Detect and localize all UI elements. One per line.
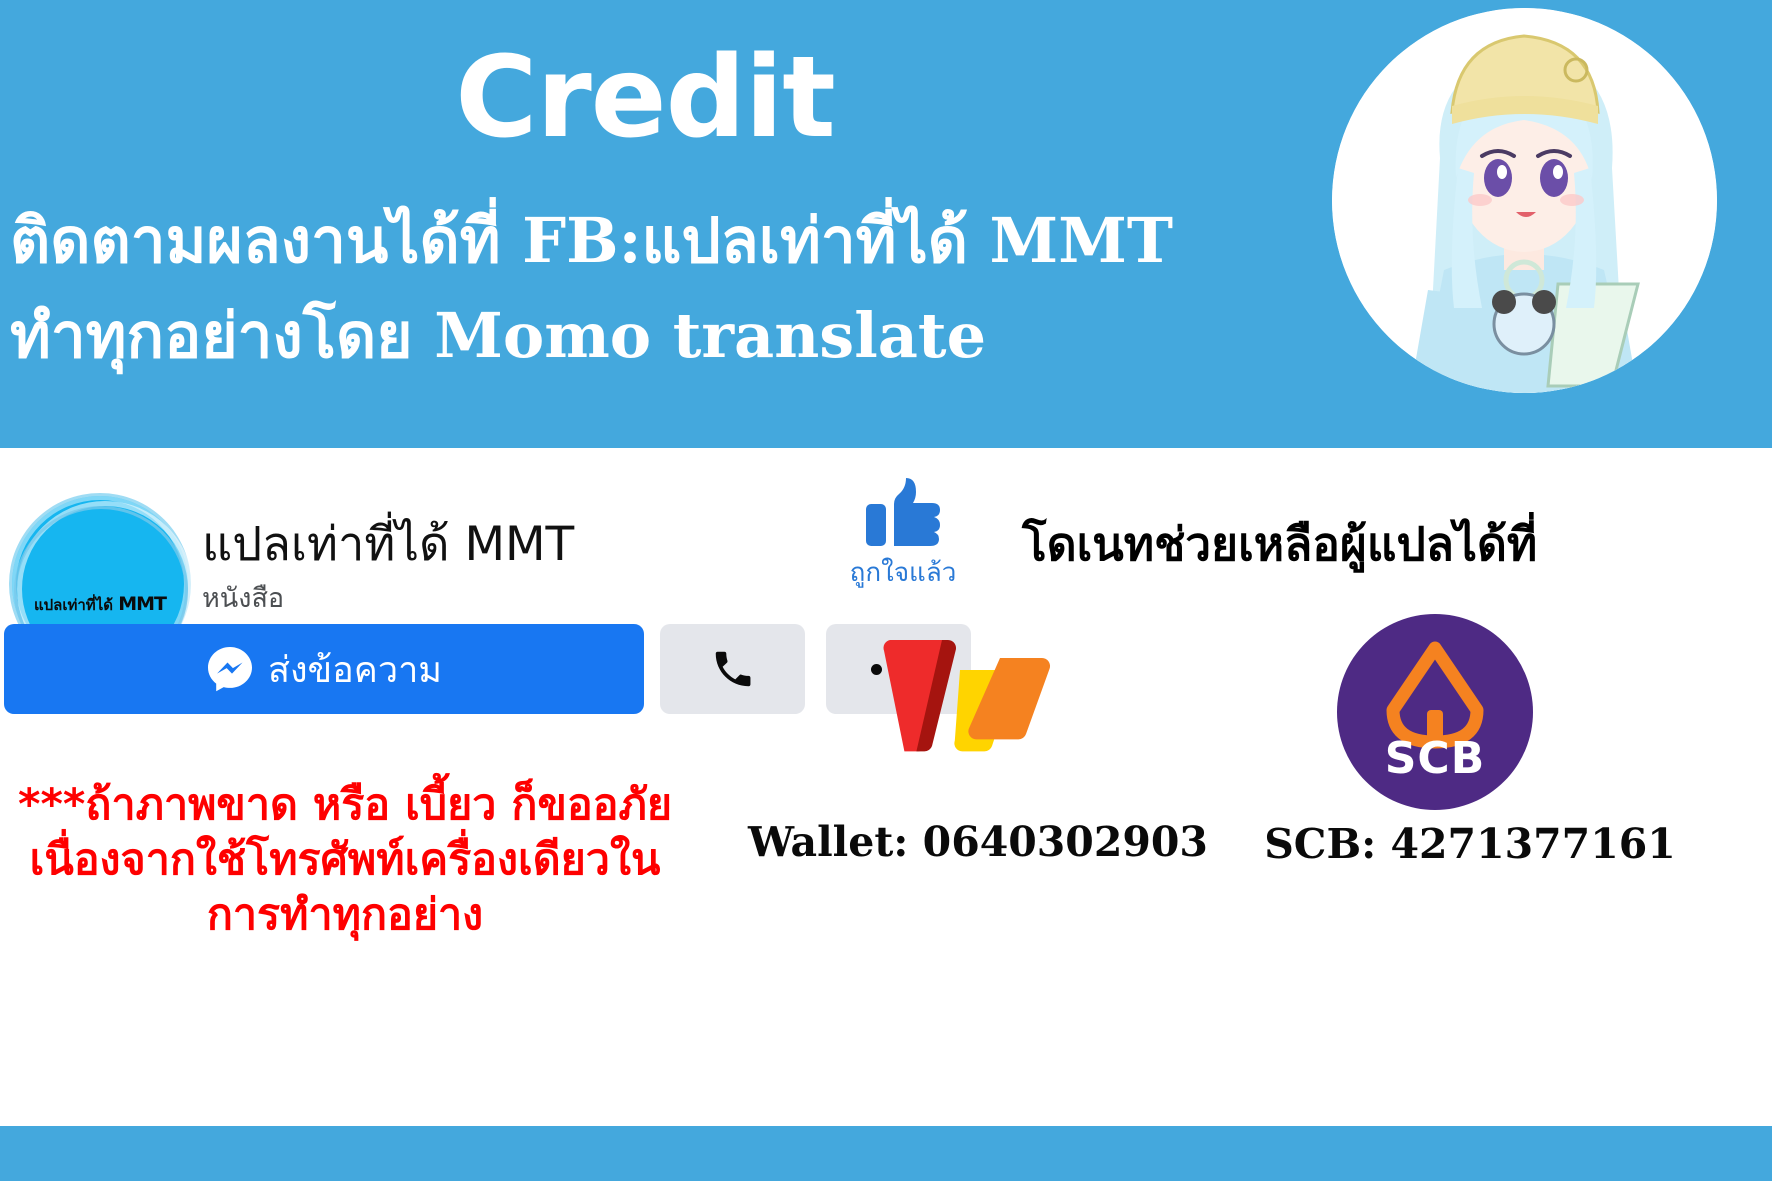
page-category: หนังสือ <box>202 576 284 619</box>
wallet-number-label: Wallet: 0640302903 <box>748 818 1208 866</box>
logo-caption-thai: แปลเท่าที่ได้ <box>34 596 113 614</box>
messenger-icon <box>206 645 254 693</box>
scb-logo: SCB <box>1337 614 1533 810</box>
banner-follow-line: ติดตามผลงานได้ที่ FB:แปลเท่าที่ได้ MMT <box>10 205 1173 276</box>
scb-logo-text: SCB <box>1337 733 1533 784</box>
like-label: ถูกใจแล้ว <box>838 552 968 593</box>
page-title: Credit <box>0 40 1290 158</box>
like-status[interactable]: ถูกใจแล้ว <box>838 476 968 593</box>
truemoney-wallet-logo <box>882 634 1052 754</box>
logo-caption: แปลเท่าที่ได้ MMT <box>12 593 188 617</box>
thumbs-up-icon <box>864 476 942 548</box>
send-message-label: ส่งข้อความ <box>268 641 442 698</box>
scb-number-label: SCB: 4271377161 <box>1235 820 1705 868</box>
banner-credit-line: ทำทุกอย่างโดย Momo translate <box>10 300 986 371</box>
warning-line-3: การทำทุกอย่าง <box>0 888 690 943</box>
logo-caption-mmt: MMT <box>118 593 166 615</box>
donate-heading: โดเนทช่วยเหลือผู้แปลได้ที่ <box>1022 508 1537 581</box>
warning-line-1: ***ถ้าภาพขาด หรือ เบี้ยว ก็ขออภัย <box>0 778 690 833</box>
warning-line-2: เนื่องจากใช้โทรศัพท์เครื่องเดียวใน <box>0 833 690 888</box>
page-name: แปลเท่าที่ได้ MMT <box>202 506 574 581</box>
bottom-bar <box>0 1126 1772 1181</box>
facebook-page-card: แปลเท่าที่ได้ MMT แปลเท่าที่ได้ MMT หนัง… <box>0 448 1772 1126</box>
warning-note: ***ถ้าภาพขาด หรือ เบี้ยว ก็ขออภัย เนื่อง… <box>0 778 690 943</box>
credit-banner: Credit ติดตามผลงานได้ที่ FB:แปลเท่าที่ได… <box>0 0 1772 448</box>
phone-icon <box>710 646 756 692</box>
call-button[interactable] <box>660 624 805 714</box>
avatar <box>1332 8 1717 393</box>
send-message-button[interactable]: ส่งข้อความ <box>4 624 644 714</box>
